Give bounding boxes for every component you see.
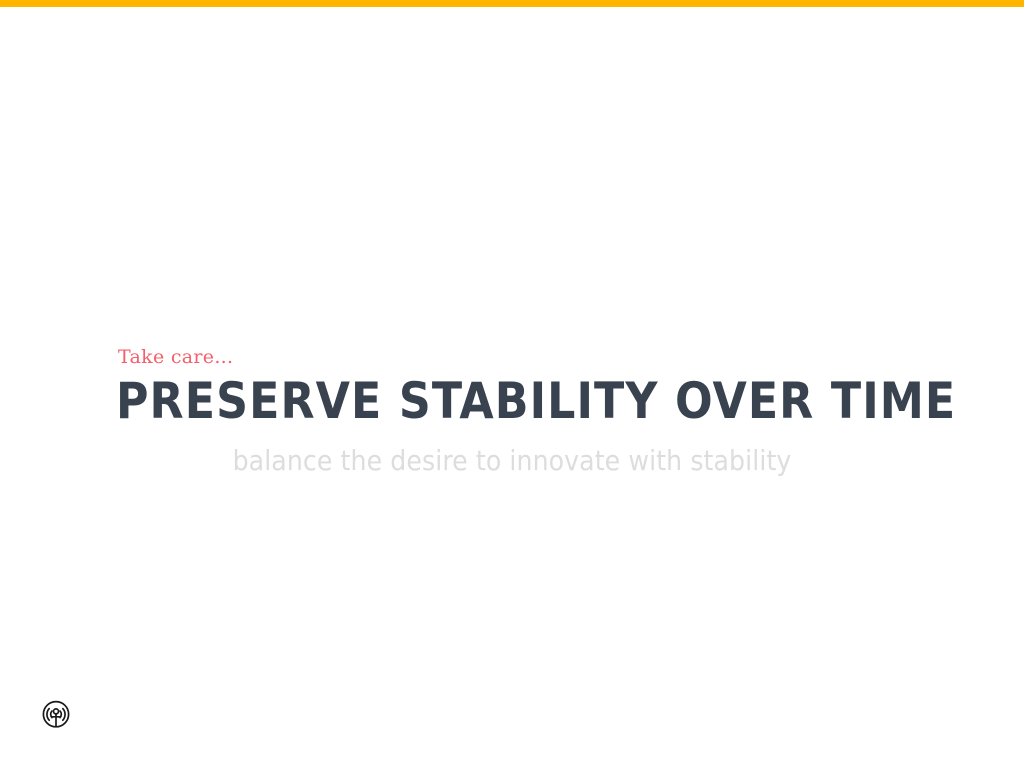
broadcast-podcast-icon (39, 699, 73, 733)
slide-subtitle: balance the desire to innovate with stab… (0, 444, 1024, 478)
slide-canvas: Take care... PRESERVE STABILITY OVER TIM… (0, 0, 1024, 768)
slide-headline: PRESERVE STABILITY OVER TIME (116, 372, 1010, 430)
top-accent-bar (0, 0, 1024, 7)
slide-content-block: Take care... PRESERVE STABILITY OVER TIM… (0, 344, 1024, 478)
eyebrow-text: Take care... (118, 344, 1024, 370)
